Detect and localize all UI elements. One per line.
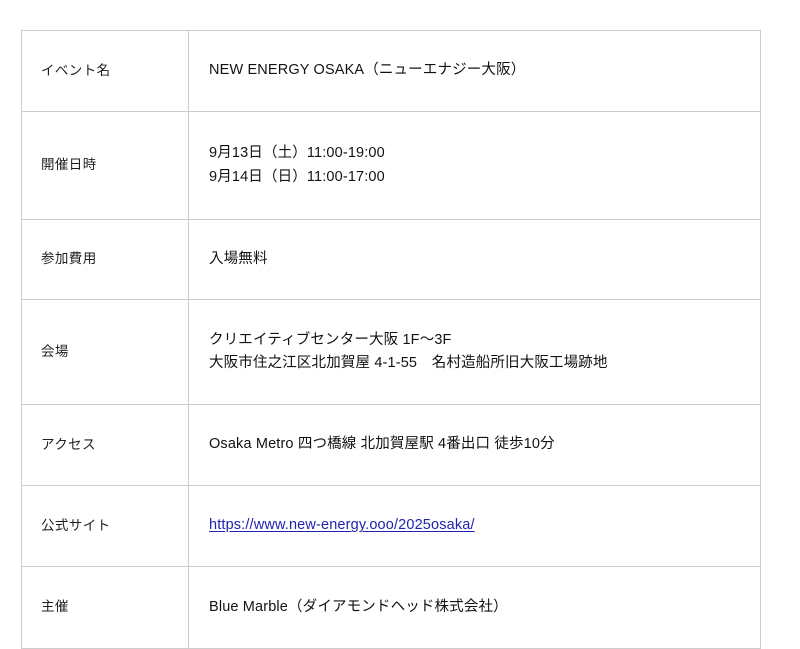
value-text-line: 入場無料 (209, 248, 750, 271)
row-value-event-name: NEW ENERGY OSAKA（ニューエナジー大阪） (189, 31, 761, 112)
row-label-venue: 会場 (22, 300, 189, 405)
row-value-venue: クリエイティブセンター大阪 1F〜3F 大阪市住之江区北加賀屋 4-1-55 名… (189, 300, 761, 405)
value-text-line: 9月13日（土）11:00-19:00 (209, 142, 750, 165)
event-info-table: イベント名 NEW ENERGY OSAKA（ニューエナジー大阪） 開催日時 9… (21, 30, 761, 649)
value-text-line: Blue Marble（ダイアモンドヘッド株式会社） (209, 596, 750, 619)
page-canvas: イベント名 NEW ENERGY OSAKA（ニューエナジー大阪） 開催日時 9… (0, 0, 800, 489)
row-value-access: Osaka Metro 四つ橋線 北加賀屋駅 4番出口 徒歩10分 (189, 405, 761, 486)
value-text-line: NEW ENERGY OSAKA（ニューエナジー大阪） (209, 59, 750, 82)
value-text-line: 大阪市住之江区北加賀屋 4-1-55 名村造船所旧大阪工場跡地 (209, 352, 750, 375)
row-label-organizer: 主催 (22, 567, 189, 649)
table-row-datetime: 開催日時 9月13日（土）11:00-19:00 9月14日（日）11:00-1… (22, 112, 761, 220)
table-row-organizer: 主催 Blue Marble（ダイアモンドヘッド株式会社） (22, 567, 761, 649)
row-label-access: アクセス (22, 405, 189, 486)
row-label-datetime: 開催日時 (22, 112, 189, 220)
table-row-fee: 参加費用 入場無料 (22, 220, 761, 300)
table-row-official: 公式サイト https://www.new-energy.ooo/2025osa… (22, 486, 761, 567)
value-text-line: 9月14日（日）11:00-17:00 (209, 166, 750, 189)
table-row-venue: 会場 クリエイティブセンター大阪 1F〜3F 大阪市住之江区北加賀屋 4-1-5… (22, 300, 761, 405)
row-value-fee: 入場無料 (189, 220, 761, 300)
row-label-fee: 参加費用 (22, 220, 189, 300)
table-row-access: アクセス Osaka Metro 四つ橋線 北加賀屋駅 4番出口 徒歩10分 (22, 405, 761, 486)
row-value-official-site: https://www.new-energy.ooo/2025osaka/ (189, 486, 761, 567)
row-value-datetime: 9月13日（土）11:00-19:00 9月14日（日）11:00-17:00 (189, 112, 761, 220)
table-row-event-name: イベント名 NEW ENERGY OSAKA（ニューエナジー大阪） (22, 31, 761, 112)
row-value-organizer: Blue Marble（ダイアモンドヘッド株式会社） (189, 567, 761, 649)
value-text-line: クリエイティブセンター大阪 1F〜3F (209, 329, 750, 352)
official-site-link[interactable]: https://www.new-energy.ooo/2025osaka/ (209, 517, 475, 533)
value-text-line: Osaka Metro 四つ橋線 北加賀屋駅 4番出口 徒歩10分 (209, 433, 750, 456)
row-label-official-site: 公式サイト (22, 486, 189, 567)
row-label-event-name: イベント名 (22, 31, 189, 112)
